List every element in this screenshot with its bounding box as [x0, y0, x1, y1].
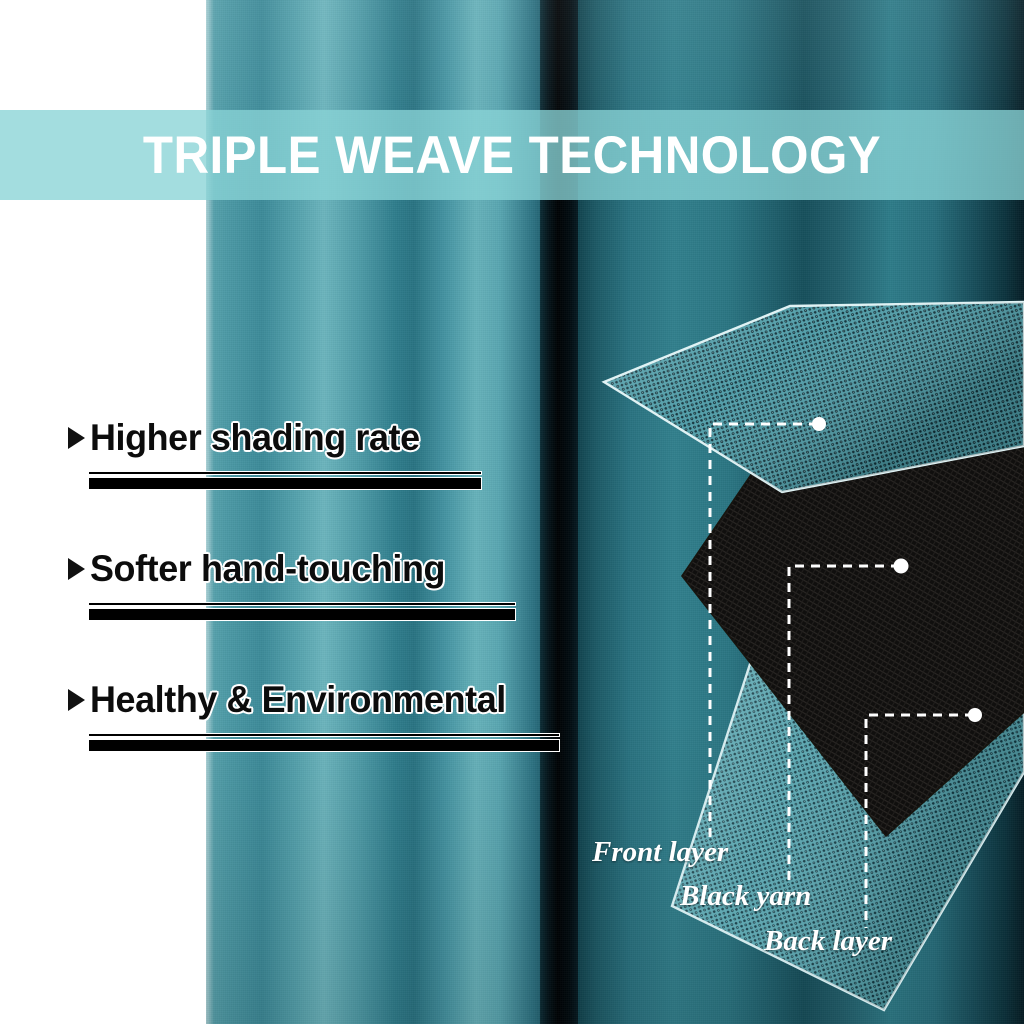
underline-thin	[88, 602, 516, 606]
feature-list: Higher shading rate Softer hand-touching…	[68, 415, 588, 808]
triangle-right-icon	[68, 689, 85, 711]
feature-underline	[88, 733, 560, 752]
callout-dot-black-yarn	[894, 559, 909, 574]
feature-label: Softer hand-touching	[90, 548, 445, 590]
underline-thick	[88, 477, 482, 490]
caption-black-yarn: Black yarn	[680, 880, 811, 913]
feature-label: Higher shading rate	[90, 417, 420, 459]
underline-thick	[88, 608, 516, 621]
triangle-right-icon	[68, 558, 85, 580]
underline-thick	[88, 739, 560, 752]
feature-item-softer-hand-touching: Softer hand-touching	[68, 546, 588, 621]
callout-dot-back-layer	[968, 708, 982, 722]
product-infographic: TRIPLE WEAVE TECHNOLOGY	[0, 0, 1024, 1024]
feature-underline	[88, 471, 482, 490]
feature-label: Healthy & Environmental	[90, 679, 506, 721]
underline-thin	[88, 471, 482, 475]
triangle-right-icon	[68, 427, 85, 449]
callout-dot-front-layer	[812, 417, 826, 431]
feature-item-healthy-environmental: Healthy & Environmental	[68, 677, 588, 752]
feature-item-higher-shading-rate: Higher shading rate	[68, 415, 588, 490]
caption-front-layer: Front layer	[592, 836, 728, 869]
page-title: TRIPLE WEAVE TECHNOLOGY	[36, 110, 988, 200]
feature-underline	[88, 602, 516, 621]
underline-thin	[88, 733, 560, 737]
caption-back-layer: Back layer	[764, 925, 892, 958]
